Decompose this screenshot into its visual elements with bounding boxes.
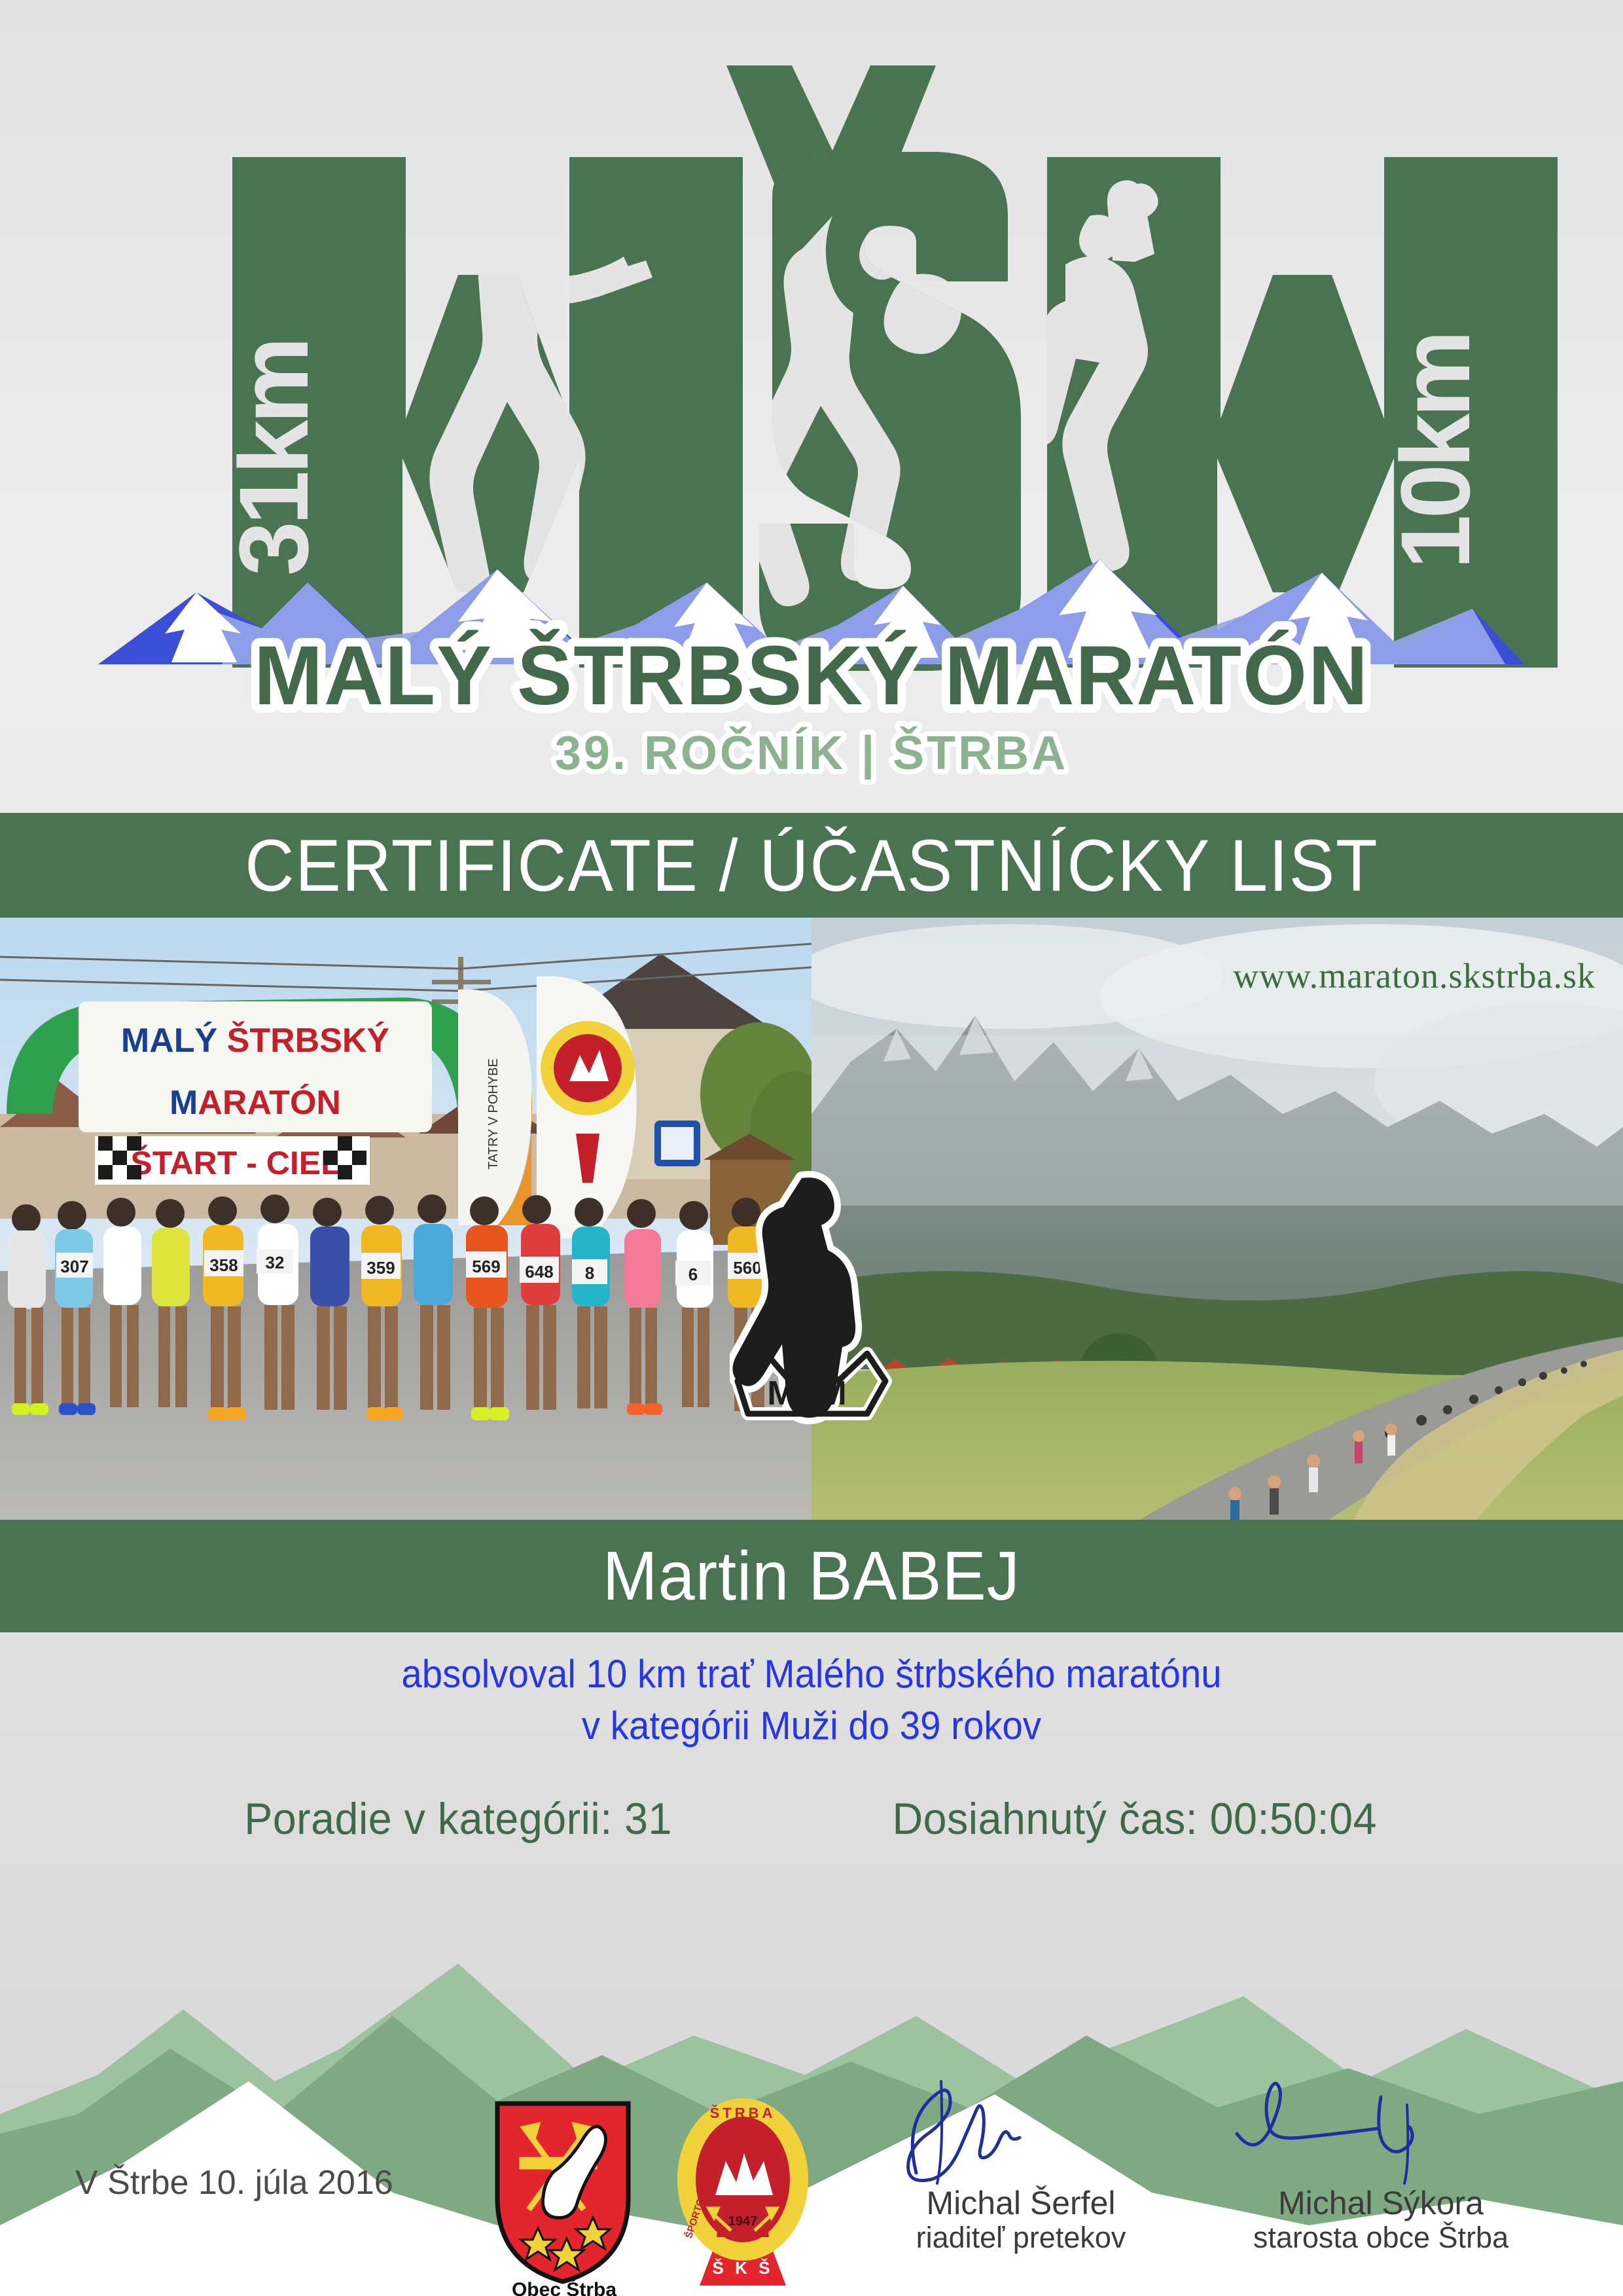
signatory-role-2: starosta obce Štrba xyxy=(1198,2221,1564,2255)
signature-block-mayor: Michal Sýkora starosta obce Štrba xyxy=(1198,2075,1564,2254)
participation-description: absolvoval 10 km trať Malého štrbského m… xyxy=(48,1648,1574,1751)
svg-text:358: 358 xyxy=(209,1255,238,1275)
category-rank: Poradie v kategórii: 31 xyxy=(244,1793,672,1844)
svg-text:31km: 31km xyxy=(219,340,329,576)
obec-strba-crest xyxy=(491,2100,635,2286)
photo-tatra-panorama: www.maraton.skstrba.sk xyxy=(811,918,1623,1533)
svg-text:648: 648 xyxy=(525,1262,553,1282)
svg-text:ŠTART - CIEĽ: ŠTART - CIEĽ xyxy=(130,1144,340,1181)
edition-line-fill: 39. ROČNÍK | ŠTRBA xyxy=(555,726,1068,780)
issue-date: V Štrbe 10. júla 2016 xyxy=(75,2163,393,2202)
svg-text:569: 569 xyxy=(472,1257,500,1276)
signature-sykora xyxy=(1198,2075,1564,2186)
msm-runner-badge: MŠM xyxy=(730,1165,893,1453)
svg-text:32: 32 xyxy=(266,1253,285,1272)
svg-text:6: 6 xyxy=(688,1265,698,1284)
svg-text:10km: 10km xyxy=(1380,334,1490,569)
obec-crest-label: Obec Štrba xyxy=(486,2279,643,2296)
svg-text:MALÝ ŠTRBSKÝ: MALÝ ŠTRBSKÝ xyxy=(121,1021,389,1060)
sks-bottom-text: Š K Š xyxy=(713,2258,774,2278)
badge-text: MŠM xyxy=(767,1374,846,1412)
signatory-name-2: Michal Sýkora xyxy=(1198,2186,1564,2221)
signatory-role-1: riaditeľ pretekov xyxy=(838,2221,1204,2255)
participant-name-band: Martin BABEJ xyxy=(0,1520,1623,1632)
signature-serfel xyxy=(838,2075,1204,2186)
sks-top-text: ŠTRBA xyxy=(710,2105,776,2121)
svg-text:MARATÓN: MARATÓN xyxy=(169,1084,341,1122)
participant-name: Martin BABEJ xyxy=(603,1537,1020,1616)
svg-text:359: 359 xyxy=(366,1258,395,1278)
certificate-footer: V Štrbe 10. júla 2016 Obec Štrba xyxy=(0,2049,1623,2296)
event-title-fill: MALÝ ŠTRBSKÝ MARATÓN xyxy=(254,628,1369,722)
svg-text:307: 307 xyxy=(60,1257,88,1276)
signatory-name-1: Michal Šerfel xyxy=(838,2186,1204,2221)
svg-text:8: 8 xyxy=(585,1263,594,1283)
event-logo: 31km 10km xyxy=(0,0,1623,789)
website-url[interactable]: www.maraton.skstrba.sk xyxy=(1233,956,1596,996)
certificate-title-bar: CERTIFICATE / ÚČASTNÍCKY LIST xyxy=(0,813,1623,918)
logo-graphic: 31km 10km xyxy=(0,0,1623,789)
sks-club-logo: ŠTRBA 1947 Š K Š ŠPORTOVÝ KLUB xyxy=(671,2096,815,2289)
svg-text:TATRY V POHYBE: TATRY V POHYBE xyxy=(486,1058,501,1170)
description-line-1: absolvoval 10 km trať Malého štrbského m… xyxy=(48,1648,1574,1700)
letter-s-middle xyxy=(736,152,1021,671)
description-line-2: v kategórii Muži do 39 rokov xyxy=(48,1700,1574,1751)
finish-time: Dosiahnutý čas: 00:50:04 xyxy=(893,1793,1377,1844)
results-row: Poradie v kategórii: 31 Dosiahnutý čas: … xyxy=(0,1793,1623,1844)
event-title-graphic: MALÝ ŠTRBSKÝ MARATÓN MALÝ ŠTRBSKÝ MARATÓ… xyxy=(254,628,1369,780)
photo-race-start: MALÝ ŠTRBSKÝ MARATÓN ŠTART - CIEĽ xyxy=(0,918,811,1533)
signature-block-director: Michal Šerfel riaditeľ pretekov xyxy=(838,2075,1204,2254)
sks-year: 1947 xyxy=(728,2214,758,2229)
page-title: CERTIFICATE / ÚČASTNÍCKY LIST xyxy=(245,823,1378,908)
certificate-page: 31km 10km xyxy=(0,0,1623,2296)
